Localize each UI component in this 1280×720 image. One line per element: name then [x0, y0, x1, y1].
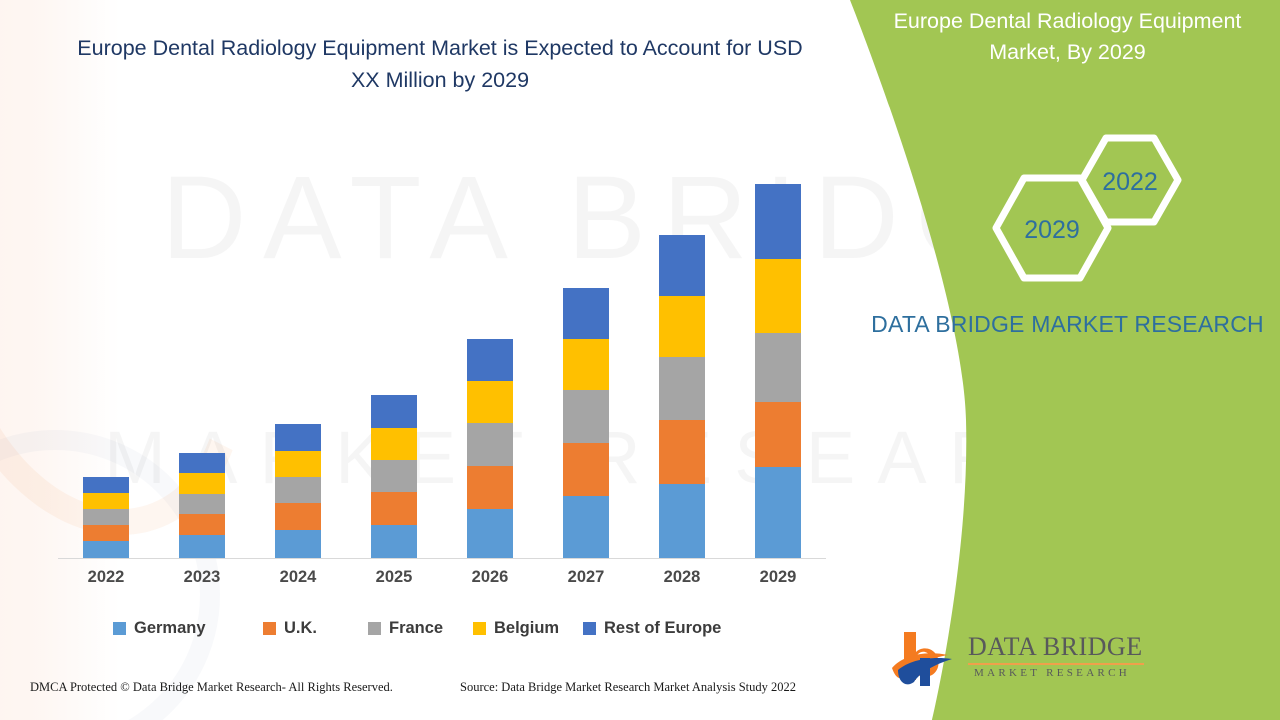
segment-france-2029 — [755, 333, 801, 402]
green-panel-content: Europe Dental Radiology Equipment Market… — [820, 0, 1280, 720]
segment-rest-of-europe-2023 — [179, 453, 225, 473]
chart-title: Europe Dental Radiology Equipment Market… — [60, 32, 820, 96]
legend-item-rest-of-europe[interactable]: Rest of Europe — [583, 616, 721, 640]
segment-germany-2022 — [83, 541, 129, 558]
legend-label-rest-of-europe: Rest of Europe — [604, 619, 721, 638]
legend-item-germany[interactable]: Germany — [113, 616, 206, 640]
legend-swatch-rest-of-europe — [583, 622, 596, 635]
footer-source: Source: Data Bridge Market Research Mark… — [460, 680, 796, 695]
legend-label-france: France — [389, 619, 443, 638]
bar-2022 — [83, 477, 129, 558]
bar-2025 — [371, 395, 417, 558]
hexagon-2022-label: 2022 — [1102, 168, 1158, 196]
bar-2024 — [275, 424, 321, 558]
logo-wordmark: DATA BRIDGE MARKET RESEARCH — [968, 632, 1148, 679]
segment-u-k-2026 — [467, 466, 513, 509]
segment-u-k-2028 — [659, 420, 705, 484]
x-label-2025: 2025 — [359, 568, 429, 587]
segment-rest-of-europe-2029 — [755, 184, 801, 259]
x-label-2022: 2022 — [71, 568, 141, 587]
logo-b-blue — [920, 658, 930, 686]
segment-rest-of-europe-2028 — [659, 235, 705, 296]
segment-u-k-2027 — [563, 443, 609, 496]
segment-rest-of-europe-2025 — [371, 395, 417, 428]
segment-france-2022 — [83, 509, 129, 525]
bar-2026 — [467, 339, 513, 558]
segment-germany-2023 — [179, 535, 225, 558]
logo-subtitle: MARKET RESEARCH — [968, 667, 1148, 679]
segment-belgium-2022 — [83, 493, 129, 509]
x-label-2027: 2027 — [551, 568, 621, 587]
segment-rest-of-europe-2027 — [563, 288, 609, 339]
segment-france-2025 — [371, 460, 417, 492]
segment-france-2023 — [179, 494, 225, 514]
segment-germany-2024 — [275, 530, 321, 558]
data-bridge-logo: DATA BRIDGE MARKET RESEARCH — [890, 628, 1140, 698]
segment-france-2024 — [275, 477, 321, 503]
stacked-bar-chart — [58, 120, 826, 560]
chart-legend: GermanyU.K.FranceBelgiumRest of Europe — [58, 616, 826, 642]
bar-2028 — [659, 235, 705, 558]
legend-swatch-u-k — [263, 622, 276, 635]
segment-belgium-2028 — [659, 296, 705, 357]
segment-germany-2029 — [755, 467, 801, 558]
segment-rest-of-europe-2024 — [275, 424, 321, 451]
segment-germany-2026 — [467, 509, 513, 558]
segment-france-2026 — [467, 423, 513, 466]
infographic-root: DATA BRIDGE MARKET RESEARCH Europe Denta… — [0, 0, 1280, 720]
chart-plot-area — [58, 120, 826, 559]
segment-u-k-2022 — [83, 525, 129, 541]
logo-mark-icon — [890, 628, 960, 690]
green-side-panel: Europe Dental Radiology Equipment Market… — [820, 0, 1280, 720]
legend-swatch-germany — [113, 622, 126, 635]
segment-belgium-2024 — [275, 451, 321, 477]
x-label-2024: 2024 — [263, 568, 333, 587]
bar-2029 — [755, 184, 801, 558]
segment-germany-2028 — [659, 484, 705, 558]
footer-copyright: DMCA Protected © Data Bridge Market Rese… — [30, 680, 393, 695]
x-label-2023: 2023 — [167, 568, 237, 587]
logo-title: DATA BRIDGE — [968, 632, 1148, 662]
legend-label-u-k: U.K. — [284, 619, 317, 638]
legend-label-germany: Germany — [134, 619, 206, 638]
legend-item-belgium[interactable]: Belgium — [473, 616, 559, 640]
legend-swatch-belgium — [473, 622, 486, 635]
x-axis-line — [58, 558, 826, 559]
legend-item-france[interactable]: France — [368, 616, 443, 640]
segment-belgium-2027 — [563, 339, 609, 390]
x-label-2028: 2028 — [647, 568, 717, 587]
legend-item-u-k[interactable]: U.K. — [263, 616, 317, 640]
segment-belgium-2029 — [755, 259, 801, 333]
segment-rest-of-europe-2022 — [83, 477, 129, 493]
segment-belgium-2026 — [467, 381, 513, 423]
segment-germany-2027 — [563, 496, 609, 558]
bar-2027 — [563, 288, 609, 558]
logo-divider — [968, 663, 1144, 665]
segment-belgium-2023 — [179, 473, 225, 494]
segment-france-2028 — [659, 357, 705, 420]
hexagon-2029: 2029 — [996, 178, 1108, 278]
brand-name: DATA BRIDGE MARKET RESEARCH — [860, 308, 1275, 340]
segment-germany-2025 — [371, 525, 417, 558]
footer: DMCA Protected © Data Bridge Market Rese… — [0, 680, 840, 706]
legend-label-belgium: Belgium — [494, 619, 559, 638]
segment-u-k-2029 — [755, 402, 801, 467]
x-label-2026: 2026 — [455, 568, 525, 587]
legend-swatch-france — [368, 622, 381, 635]
segment-france-2027 — [563, 390, 609, 443]
segment-u-k-2025 — [371, 492, 417, 525]
panel-title: Europe Dental Radiology Equipment Market… — [860, 6, 1275, 68]
segment-u-k-2023 — [179, 514, 225, 535]
bar-2023 — [179, 453, 225, 558]
hexagon-2029-label: 2029 — [1024, 216, 1080, 244]
x-label-2029: 2029 — [743, 568, 813, 587]
x-axis-labels: 20222023202420252026202720282029 — [58, 568, 826, 594]
hexagon-badges: 2022 2029 — [975, 130, 1190, 285]
segment-belgium-2025 — [371, 428, 417, 460]
segment-u-k-2024 — [275, 503, 321, 530]
segment-rest-of-europe-2026 — [467, 339, 513, 381]
